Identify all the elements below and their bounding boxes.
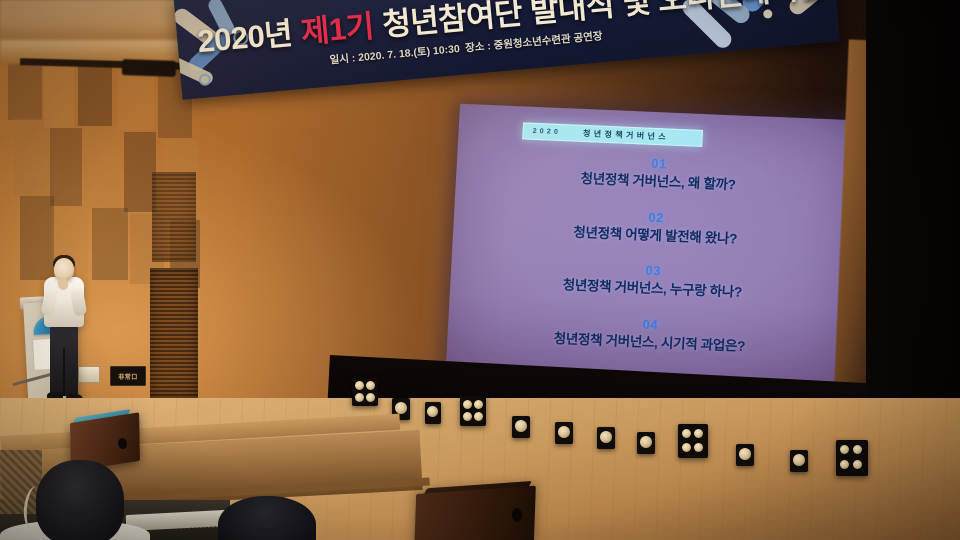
banner-deco-ring — [198, 73, 211, 86]
lamp-cell — [474, 412, 483, 421]
slide-header-badge: 2020 청년정책거버넌스 — [522, 122, 703, 147]
lamp-cell — [366, 393, 375, 402]
stage-par-light — [637, 432, 655, 454]
wall-notice-plate — [78, 366, 100, 383]
lamp-lens — [558, 426, 570, 438]
stage-blinder-light — [460, 396, 486, 426]
lamp-lens — [739, 448, 751, 460]
lamp-cell — [474, 400, 483, 409]
lamp-cell — [355, 381, 364, 390]
lamp-lens — [427, 406, 438, 417]
lamp-cell — [463, 412, 472, 421]
stage-par-light — [597, 427, 615, 449]
wall-vent-louver — [152, 172, 196, 262]
stage-blinder-light — [352, 378, 378, 406]
exit-sign-label: 非常口 — [118, 372, 137, 381]
audience-head-left — [36, 460, 124, 540]
list-item: 04 청년정책 거버넌스, 시기적 과업은? — [447, 308, 853, 361]
lamp-cell — [682, 429, 691, 438]
lamp-cell — [840, 445, 849, 454]
lamp-cell — [694, 429, 703, 438]
lamp-cell — [355, 393, 364, 402]
stage-blinder-light — [678, 424, 708, 458]
stage-par-light — [512, 416, 530, 438]
stage-par-light — [555, 422, 573, 444]
monitor-handle-hole — [512, 508, 522, 522]
lamp-cell — [366, 381, 375, 390]
lamp-lens — [640, 436, 652, 448]
list-item: 01 청년정책 거버넌스, 왜 할까? — [456, 148, 862, 201]
banner-rest: 청년참여단 발대식 및 오리엔테이션 — [381, 0, 827, 43]
stage-par-light — [790, 450, 808, 472]
slide-badge-title: 청년정책거버넌스 — [583, 128, 670, 143]
lamp-cell — [463, 400, 472, 409]
slide-badge-year: 2020 — [532, 128, 561, 136]
lamp-lens — [515, 420, 527, 432]
wall-panel — [84, 126, 120, 208]
lamp-cell — [840, 460, 849, 469]
exit-sign: 非常口 — [110, 366, 146, 386]
speaker-leg-gap — [63, 348, 65, 396]
lamp-lens — [793, 454, 805, 466]
list-item: 02 청년정책 어떻게 발전해 왔나? — [453, 201, 859, 254]
wall-panel — [50, 128, 82, 206]
stage-par-light — [736, 444, 754, 466]
banner-year: 2020년 — [196, 16, 294, 59]
slide-agenda-list: 01 청년정책 거버넌스, 왜 할까? 02 청년정책 어떻게 발전해 왔나? … — [446, 148, 861, 379]
lamp-lens — [600, 431, 612, 443]
ceiling-lamp-fixture — [122, 59, 177, 77]
wall-panel — [20, 196, 54, 280]
lamp-cell — [853, 460, 862, 469]
lamp-cell — [694, 443, 703, 452]
stage-blinder-light — [836, 440, 868, 476]
wall-panel — [14, 118, 54, 196]
lamp-cell — [682, 443, 691, 452]
lamp-cell — [853, 445, 862, 454]
wall-panel — [92, 208, 128, 280]
list-item: 03 청년정책 거버넌스, 누구랑 하나? — [450, 255, 856, 308]
wall-vent-louver — [150, 268, 198, 398]
stage-photo-scene: 성남청년정책지원네트워크 2020년제1기청년참여단 발대식 및 오리엔테이션 … — [0, 0, 960, 540]
lamp-lens — [395, 402, 407, 414]
banner-cohort: 제1기 — [300, 9, 376, 50]
stage-par-light — [425, 402, 441, 424]
